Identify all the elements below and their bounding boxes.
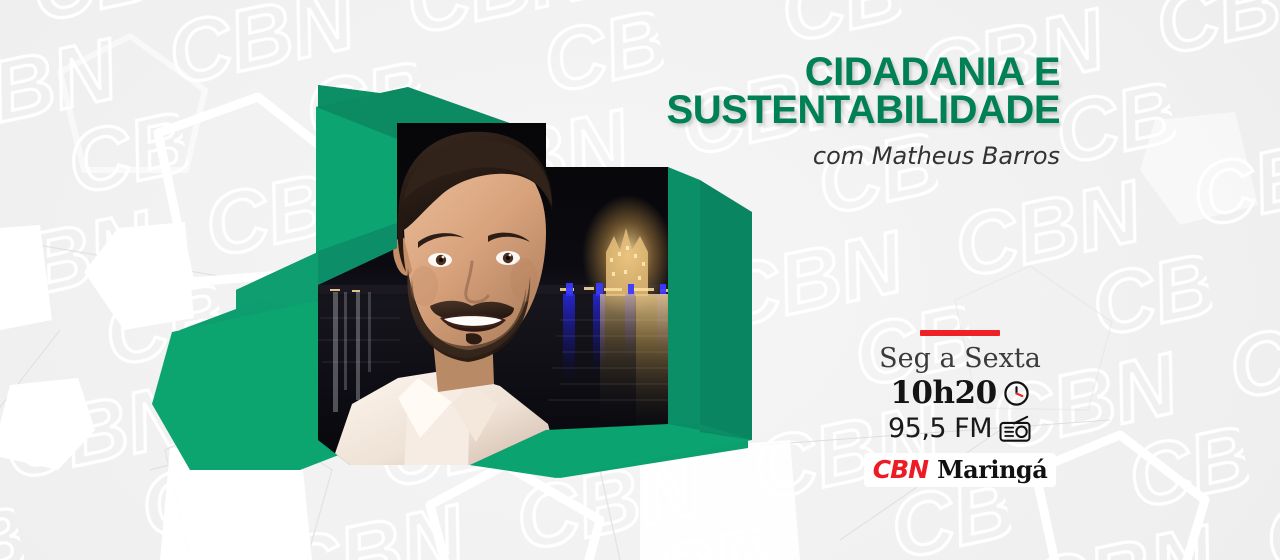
- clock-icon: [1003, 380, 1030, 407]
- broadcast-frequency-row: 95,5 FM: [860, 413, 1060, 444]
- broadcast-days: Seg a Sexta: [860, 345, 1060, 373]
- program-banner: CBN: [0, 0, 1280, 560]
- schedule-block: Seg a Sexta 10h20 95,5 FM CBN Maringá: [860, 330, 1060, 487]
- program-title-line-1: CIDADANIA E: [560, 54, 1060, 92]
- broadcast-time-row: 10h20: [860, 375, 1060, 411]
- station-brand: CBN: [873, 455, 928, 484]
- broadcast-time: 10h20: [890, 375, 996, 411]
- station-logo: CBN Maringá: [864, 453, 1057, 487]
- radio-icon: [998, 415, 1032, 443]
- accent-rule: [920, 330, 1000, 336]
- broadcast-frequency: 95,5 FM: [888, 413, 992, 444]
- program-title-line-2: SUSTENTABILIDADE: [560, 92, 1060, 130]
- program-host-subtitle: com Matheus Barros: [560, 142, 1060, 170]
- station-city: Maringá: [937, 455, 1047, 484]
- program-title-block: CIDADANIA E SUSTENTABILIDADE com Matheus…: [560, 54, 1060, 170]
